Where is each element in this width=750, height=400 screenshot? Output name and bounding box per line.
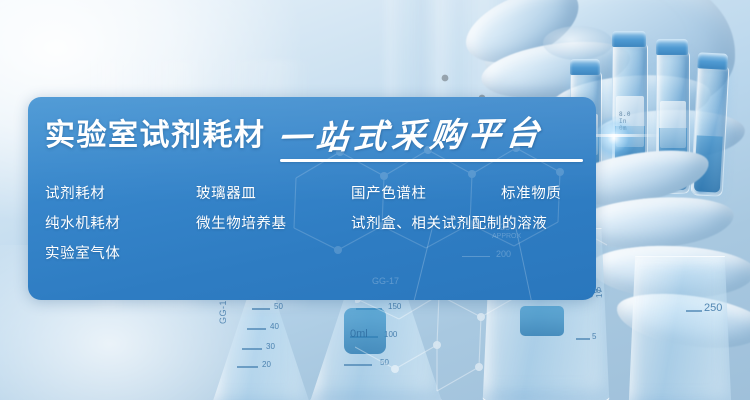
headline-brush-text: 一站式采购平台	[275, 116, 545, 156]
category-list: 试剂耗材 玻璃器皿 国产色谱柱 标准物质 纯水机耗材 微生物培养基 试剂盒、相关…	[45, 179, 585, 269]
banner-image: 8.0In0m 250 APPROX 200 150 100	[0, 0, 750, 400]
test-tube-cap-1	[570, 59, 600, 75]
glove-knuckle-highlight	[543, 26, 613, 60]
category-item-kits-and-solutions[interactable]: 试剂盒、相关试剂配制的溶液	[351, 209, 547, 239]
promo-panel: 250 APPROX 200 GG-17 实验室试剂耗材 一站式采购平台 试剂耗…	[28, 97, 596, 300]
headline-group: 实验室试剂耗材 一站式采购平台	[45, 119, 544, 153]
headline-bold-text: 实验室试剂耗材	[45, 119, 266, 153]
test-tube-label-3	[660, 101, 686, 149]
test-tube-cap-3	[656, 39, 688, 55]
category-row: 实验室气体	[45, 239, 585, 269]
category-row: 试剂耗材 玻璃器皿 国产色谱柱 标准物质	[45, 179, 585, 209]
category-item-reagent-consumables[interactable]: 试剂耗材	[45, 179, 105, 209]
category-row: 纯水机耗材 微生物培养基 试剂盒、相关试剂配制的溶液	[45, 209, 585, 239]
test-tube-cap-2	[612, 31, 646, 47]
headline-underline	[280, 159, 583, 162]
test-tube-cap-4	[697, 52, 728, 70]
category-item-water-purifier-consumables[interactable]: 纯水机耗材	[45, 209, 121, 239]
category-item-microbial-culture-medium[interactable]: 微生物培养基	[196, 209, 287, 239]
category-item-lab-gas[interactable]: 实验室气体	[45, 239, 121, 269]
category-item-glassware[interactable]: 玻璃器皿	[196, 179, 256, 209]
category-item-domestic-chromatography-column[interactable]: 国产色谱柱	[351, 179, 427, 209]
category-item-reference-material[interactable]: 标准物质	[501, 179, 561, 209]
